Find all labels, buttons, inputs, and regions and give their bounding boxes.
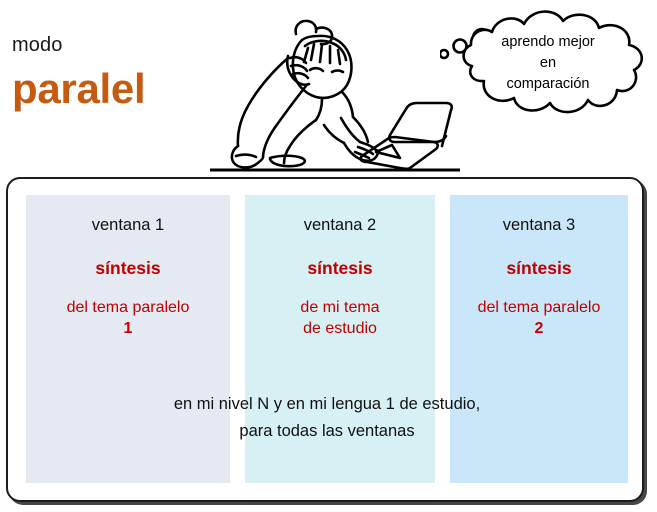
topic-line-2b: de estudio xyxy=(245,318,435,339)
topic-line-1b: 1 xyxy=(26,318,230,339)
synthesis-label-1: síntesis xyxy=(26,257,230,280)
topic-line-3b: 2 xyxy=(450,318,628,339)
topic-line-1a: del tema paralelo xyxy=(26,297,230,318)
person-studying-at-laptop-icon xyxy=(210,0,460,178)
thought-line-3: comparación xyxy=(463,74,633,95)
windows-panel: ventana 1 síntesis del tema paralelo 1 v… xyxy=(6,177,644,502)
thought-line-2: en xyxy=(463,53,633,74)
thought-bubble-text: aprendo mejor en comparación xyxy=(463,32,633,95)
topic-text-2: de mi tema de estudio xyxy=(245,297,435,339)
topic-line-2a: de mi tema xyxy=(245,297,435,318)
window-title-2: ventana 2 xyxy=(245,215,435,237)
synthesis-label-2: síntesis xyxy=(245,257,435,280)
topic-text-3: del tema paralelo 2 xyxy=(450,297,628,339)
mode-name: paralel xyxy=(12,68,145,110)
window-title-1: ventana 1 xyxy=(26,215,230,237)
header-area: modo paralel xyxy=(0,0,657,178)
caption-line-1: en mi nivel N y en mi lengua 1 de estudi… xyxy=(26,391,628,418)
thought-line-1: aprendo mejor xyxy=(463,32,633,53)
mode-label: modo xyxy=(12,34,62,57)
topic-line-3a: del tema paralelo xyxy=(450,297,628,318)
synthesis-label-3: síntesis xyxy=(450,257,628,280)
topic-text-1: del tema paralelo 1 xyxy=(26,297,230,339)
caption-line-2: para todas las ventanas xyxy=(26,418,628,445)
panel-caption: en mi nivel N y en mi lengua 1 de estudi… xyxy=(26,391,628,445)
window-title-3: ventana 3 xyxy=(450,215,628,237)
